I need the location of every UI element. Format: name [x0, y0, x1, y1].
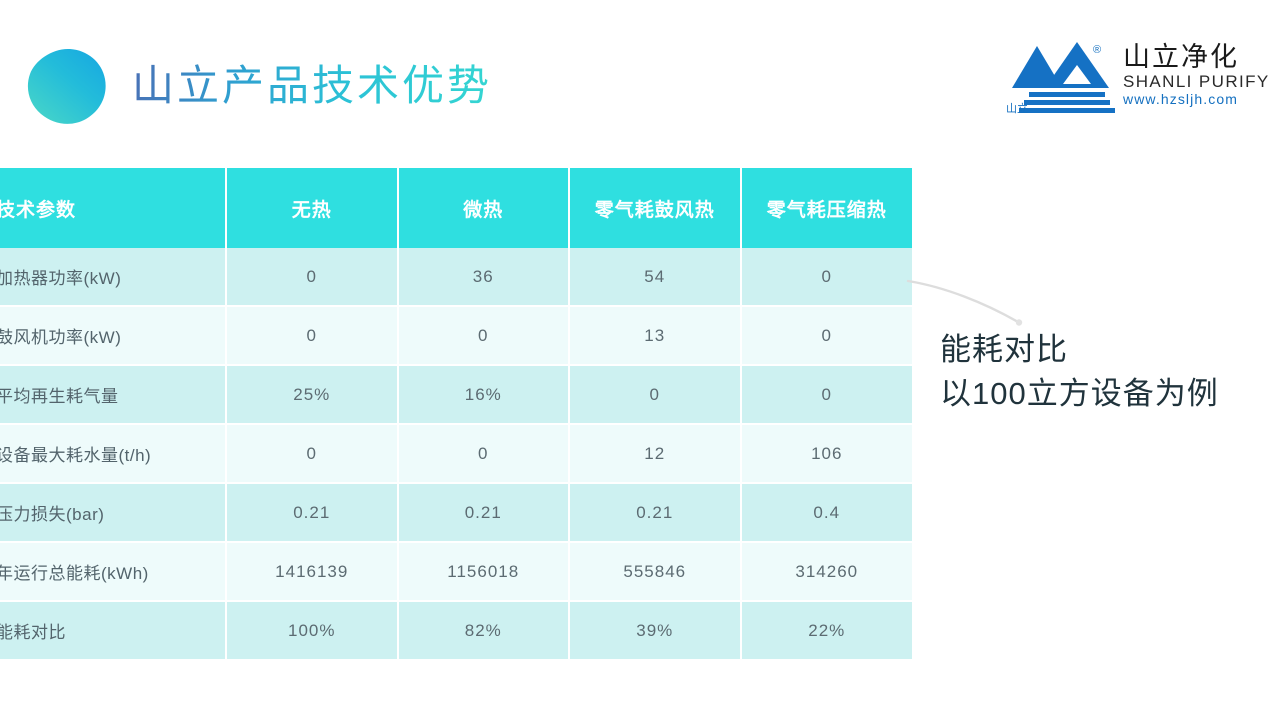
blob-shape-icon: [26, 48, 110, 126]
logo-company-name-en: SHANLI PURIFY: [1123, 72, 1263, 91]
cell-value: 36: [398, 248, 570, 306]
cell-value: 12: [569, 424, 741, 483]
table-row: 设备最大耗水量(t/h) 0 0 12 106: [0, 424, 912, 483]
cell-value: 39%: [569, 601, 741, 660]
cell-value: 0: [226, 306, 398, 365]
annotation-text: 能耗对比 以100立方设备为例: [940, 328, 1270, 416]
row-label: 设备最大耗水量(t/h): [0, 424, 226, 483]
cell-value: 0: [741, 306, 913, 365]
column-header-param: 技术参数: [0, 168, 226, 248]
row-label: 鼓风机功率(kW): [0, 306, 226, 365]
row-label: 加热器功率(kW): [0, 248, 226, 306]
cell-value: 0.21: [569, 483, 741, 542]
cell-value: 0.4: [741, 483, 913, 542]
cell-value: 0: [226, 248, 398, 306]
cell-value: 0: [741, 248, 913, 306]
table-row: 能耗对比 100% 82% 39% 22%: [0, 601, 912, 660]
table-row: 平均再生耗气量 25% 16% 0 0: [0, 365, 912, 424]
cell-value: 16%: [398, 365, 570, 424]
table-body: 加热器功率(kW) 0 36 54 0 鼓风机功率(kW) 0 0 13 0 平…: [0, 248, 912, 660]
table-row: 鼓风机功率(kW) 0 0 13 0: [0, 306, 912, 365]
column-header-blower: 零气耗鼓风热: [569, 168, 741, 248]
cell-value: 13: [569, 306, 741, 365]
row-label: 年运行总能耗(kWh): [0, 542, 226, 601]
annotation-line-2: 以100立方设备为例: [940, 372, 1270, 416]
cell-value: 100%: [226, 601, 398, 660]
cell-value: 0: [398, 424, 570, 483]
cell-value: 1416139: [226, 542, 398, 601]
column-header-wure: 无热: [226, 168, 398, 248]
spec-comparison-table: 技术参数 无热 微热 零气耗鼓风热 零气耗压缩热 加热器功率(kW) 0 36 …: [0, 168, 912, 661]
cell-value: 106: [741, 424, 913, 483]
annotation-line-1: 能耗对比: [940, 328, 1270, 372]
row-label: 能耗对比: [0, 601, 226, 660]
table-row: 加热器功率(kW) 0 36 54 0: [0, 248, 912, 306]
cell-value: 314260: [741, 542, 913, 601]
logo-website-url: www.hzsljh.com: [1123, 91, 1263, 108]
column-header-compression: 零气耗压缩热: [741, 168, 913, 248]
cell-value: 0: [741, 365, 913, 424]
cell-value: 0.21: [398, 483, 570, 542]
cell-value: 555846: [569, 542, 741, 601]
row-label: 平均再生耗气量: [0, 365, 226, 424]
registered-trademark-icon: ®: [1093, 44, 1101, 56]
company-logo: ® 山立 山立净化 SHANLI PURIFY www.hzsljh.com: [1005, 38, 1255, 130]
cell-value: 0: [226, 424, 398, 483]
cell-value: 0.21: [226, 483, 398, 542]
row-label: 压力损失(bar): [0, 483, 226, 542]
logo-text-block: 山立净化 SHANLI PURIFY www.hzsljh.com: [1123, 42, 1263, 108]
cell-value: 0: [569, 365, 741, 424]
slide-header: 山立产品技术优势 ® 山立 山立净化 SHANLI PURIFY www.hzs…: [0, 0, 1280, 160]
cell-value: 82%: [398, 601, 570, 660]
table-header-row: 技术参数 无热 微热 零气耗鼓风热 零气耗压缩热: [0, 168, 912, 248]
column-header-weire: 微热: [398, 168, 570, 248]
logo-sub-label: 山立: [1006, 100, 1028, 116]
page-title: 山立产品技术优势: [132, 58, 492, 114]
cell-value: 54: [569, 248, 741, 306]
logo-company-name-cn: 山立净化: [1123, 42, 1263, 72]
table-row: 压力损失(bar) 0.21 0.21 0.21 0.4: [0, 483, 912, 542]
cell-value: 25%: [226, 365, 398, 424]
table-row: 年运行总能耗(kWh) 1416139 1156018 555846 31426…: [0, 542, 912, 601]
cell-value: 0: [398, 306, 570, 365]
cell-value: 1156018: [398, 542, 570, 601]
cell-value: 22%: [741, 601, 913, 660]
